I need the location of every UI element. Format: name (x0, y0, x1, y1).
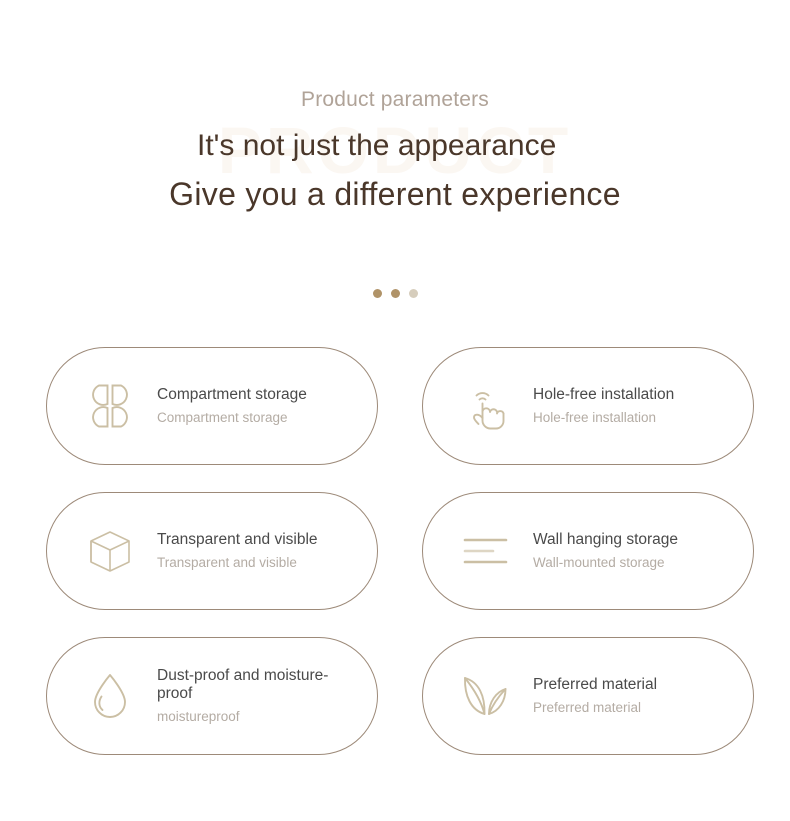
separator-dot-3 (409, 289, 418, 298)
card-subtitle: moistureproof (157, 709, 332, 725)
card-text-block: Hole-free installation Hole-free install… (533, 386, 674, 426)
wireframe-cube-icon (81, 522, 139, 580)
product-parameters-page: PRODUCT Product parameters It's not just… (0, 0, 790, 821)
card-title: Compartment storage (157, 386, 307, 404)
headline-group: It's not just the appearance Give you a … (0, 130, 790, 213)
card-title: Wall hanging storage (533, 531, 678, 549)
card-subtitle: Transparent and visible (157, 555, 318, 571)
four-petal-storage-icon (81, 377, 139, 435)
water-droplet-icon (81, 667, 139, 725)
section-eyebrow: Product parameters (0, 88, 790, 112)
feature-card-dust-moisture-proof[interactable]: Dust-proof and moisture-proof moisturepr… (46, 637, 378, 755)
card-subtitle: Preferred material (533, 700, 657, 716)
card-title: Dust-proof and moisture-proof (157, 667, 332, 703)
headline-primary: It's not just the appearance (195, 130, 595, 162)
feature-card-transparent-visible[interactable]: Transparent and visible Transparent and … (46, 492, 378, 610)
dots-separator (0, 289, 790, 298)
card-title: Preferred material (533, 676, 657, 694)
card-text-block: Transparent and visible Transparent and … (157, 531, 318, 571)
card-title: Hole-free installation (533, 386, 674, 404)
card-title: Transparent and visible (157, 531, 318, 549)
separator-dot-2 (391, 289, 400, 298)
headline-secondary: Give you a different experience (0, 175, 790, 213)
card-text-block: Dust-proof and moisture-proof moisturepr… (157, 667, 332, 725)
card-subtitle: Wall-mounted storage (533, 555, 678, 571)
feature-card-compartment-storage[interactable]: Compartment storage Compartment storage (46, 347, 378, 465)
card-text-block: Wall hanging storage Wall-mounted storag… (533, 531, 678, 571)
feature-card-hole-free-installation[interactable]: Hole-free installation Hole-free install… (422, 347, 754, 465)
two-leaves-icon (457, 667, 515, 725)
feature-card-preferred-material[interactable]: Preferred material Preferred material (422, 637, 754, 755)
separator-dot-1 (373, 289, 382, 298)
horizontal-lines-icon (457, 522, 515, 580)
feature-card-wall-hanging-storage[interactable]: Wall hanging storage Wall-mounted storag… (422, 492, 754, 610)
card-text-block: Preferred material Preferred material (533, 676, 657, 716)
card-subtitle: Compartment storage (157, 410, 307, 426)
tap-hand-icon (457, 377, 515, 435)
card-subtitle: Hole-free installation (533, 410, 674, 426)
feature-card-grid: Compartment storage Compartment storage (46, 347, 754, 755)
card-text-block: Compartment storage Compartment storage (157, 386, 307, 426)
